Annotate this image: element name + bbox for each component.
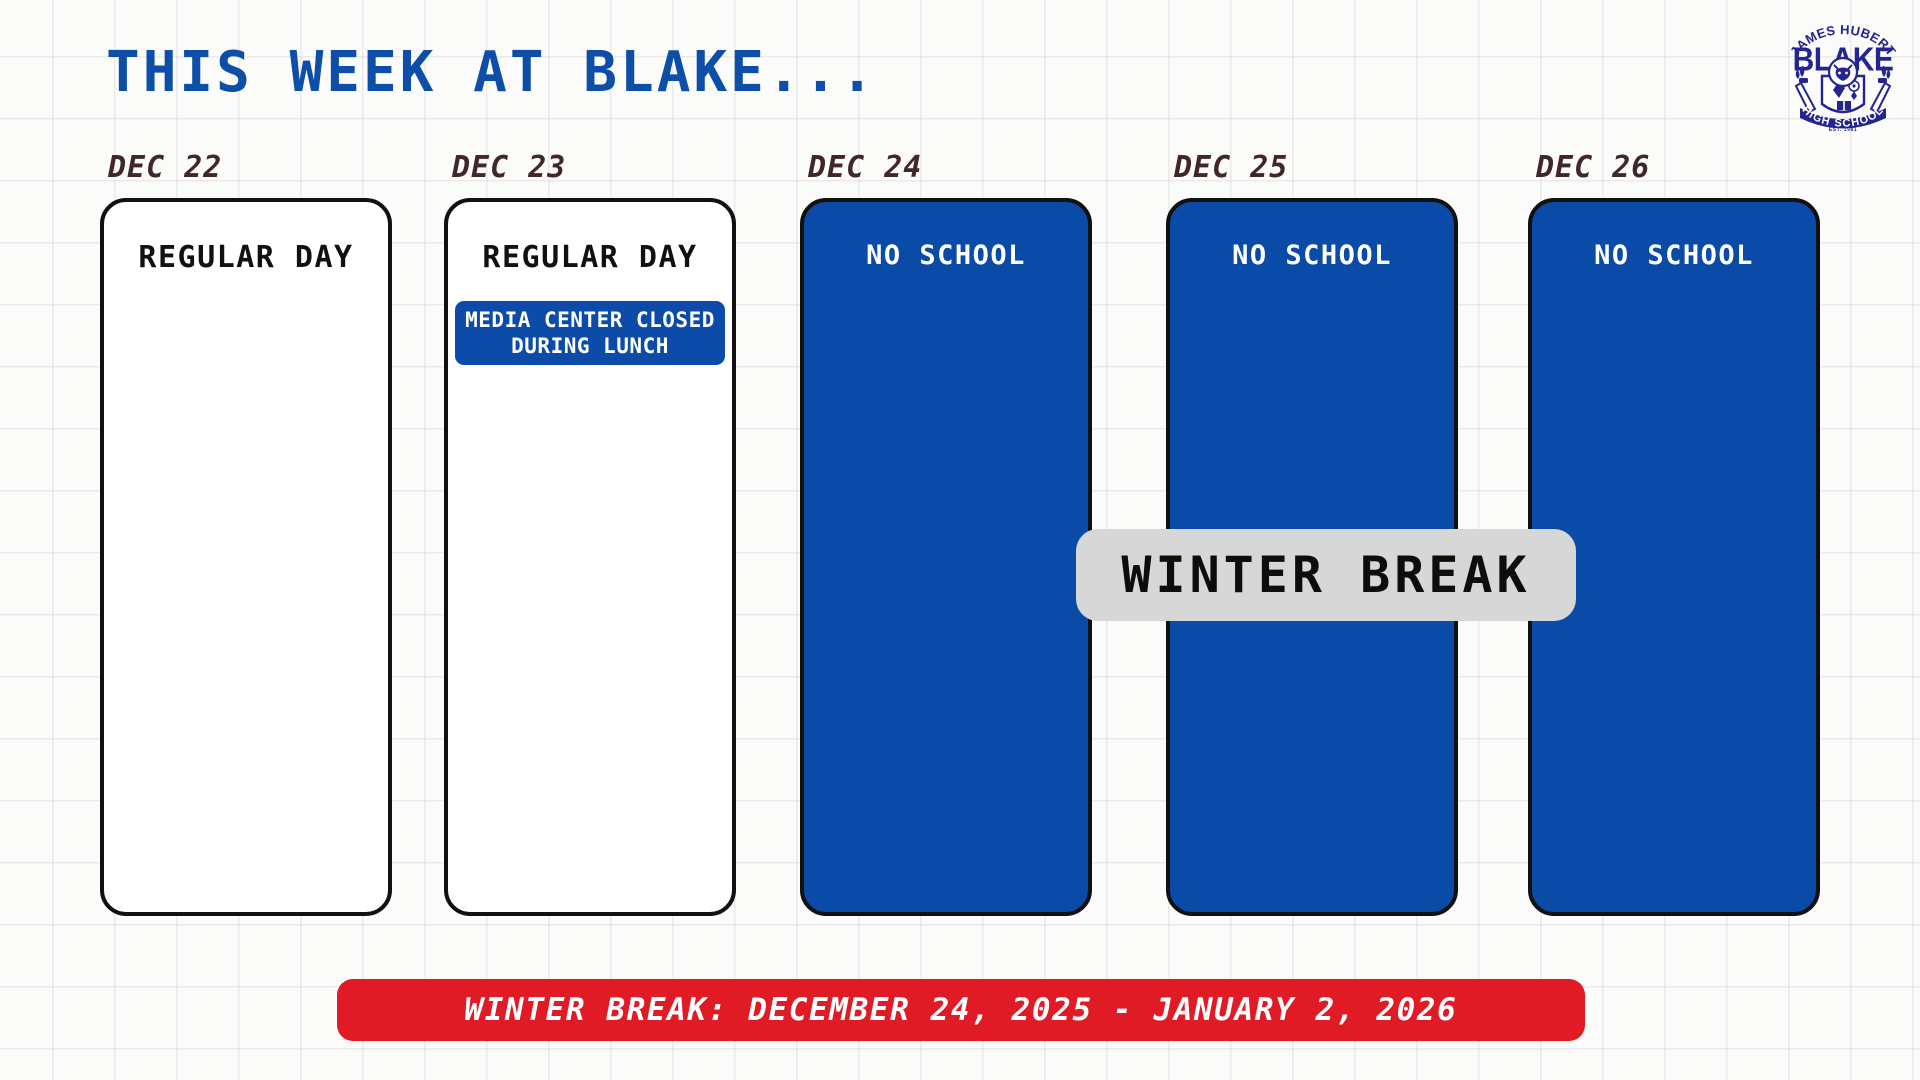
day-status-label: NO SCHOOL <box>1594 240 1754 271</box>
winter-break-date-banner: WINTER BREAK: DECEMBER 24, 2025 - JANUAR… <box>337 979 1585 1041</box>
day-column-dec-22: DEC 22 REGULAR DAY <box>100 150 392 916</box>
day-note-badge: MEDIA CENTER CLOSED DURING LUNCH <box>455 301 725 365</box>
day-card-dec-22[interactable]: REGULAR DAY <box>100 198 392 916</box>
day-date-label: DEC 23 <box>452 150 736 185</box>
school-logo: JAMES HUBERT BLAKE <box>1782 8 1904 134</box>
page-title: THIS WEEK AT BLAKE... <box>106 40 877 105</box>
day-status-label: REGULAR DAY <box>138 240 353 275</box>
day-column-dec-24: DEC 24 NO SCHOOL <box>800 150 1092 916</box>
day-date-label: DEC 26 <box>1536 150 1820 185</box>
day-card-dec-24[interactable]: NO SCHOOL <box>800 198 1092 916</box>
day-column-dec-26: DEC 26 NO SCHOOL <box>1528 150 1820 916</box>
day-status-label: NO SCHOOL <box>866 240 1026 271</box>
winter-break-label: WINTER BREAK <box>1121 546 1530 604</box>
day-card-dec-23[interactable]: REGULAR DAY MEDIA CENTER CLOSED DURING L… <box>444 198 736 916</box>
day-date-label: DEC 22 <box>108 150 392 185</box>
day-status-label: REGULAR DAY <box>482 240 697 275</box>
day-date-label: DEC 24 <box>808 150 1092 185</box>
day-column-dec-23: DEC 23 REGULAR DAY MEDIA CENTER CLOSED D… <box>444 150 736 916</box>
svg-text:EST. 1981: EST. 1981 <box>1829 127 1857 133</box>
weekly-schedule-page: THIS WEEK AT BLAKE... JAMES HUBERT BLAKE <box>0 0 1920 1080</box>
day-date-label: DEC 25 <box>1174 150 1458 185</box>
winter-break-date-text: WINTER BREAK: DECEMBER 24, 2025 - JANUAR… <box>465 992 1458 1028</box>
day-status-label: NO SCHOOL <box>1232 240 1392 271</box>
winter-break-overlay-pill: WINTER BREAK <box>1076 529 1576 621</box>
